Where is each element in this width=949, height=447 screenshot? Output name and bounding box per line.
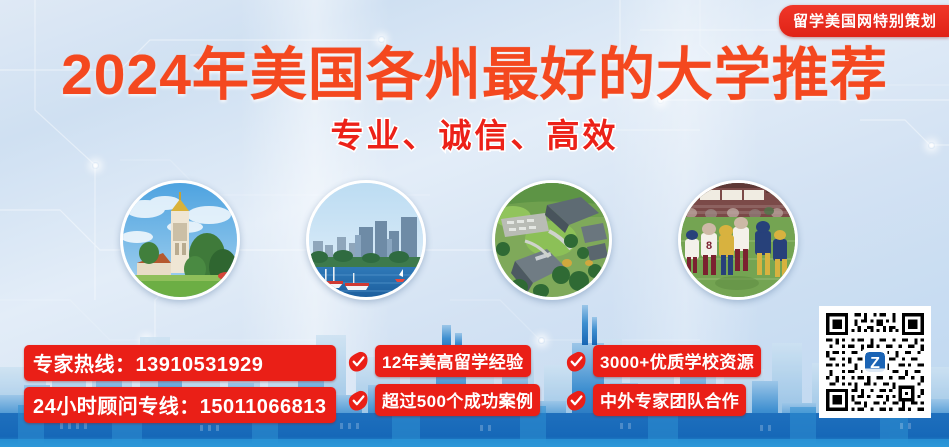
svg-text:8: 8 <box>706 240 712 252</box>
feature-label: 超过500个成功案例 <box>375 384 540 416</box>
feature-column-right: 3000+优质学校资源 中外专家团队合作 <box>566 345 761 423</box>
feature-label: 3000+优质学校资源 <box>593 345 761 377</box>
feature-label: 12年美高留学经验 <box>375 345 531 377</box>
promo-banner: 留学美国网特别策划 2024年美国各州最好的大学推荐 专业、诚信、高效 <box>0 0 949 447</box>
football-game-photo: 8 <box>678 180 798 300</box>
feature-label: 中外专家团队合作 <box>593 384 746 416</box>
page-title: 2024年美国各州最好的大学推荐 <box>0 42 949 108</box>
feature-item: 超过500个成功案例 <box>348 384 540 416</box>
campus-tower-photo <box>120 180 240 300</box>
feature-item: 中外专家团队合作 <box>566 384 761 416</box>
qr-code[interactable]: Z <box>819 306 931 418</box>
aerial-campus-photo <box>492 180 612 300</box>
waterfront-skyline-photo <box>306 180 426 300</box>
contact-block: 专家热线：13910531929 24小时顾问专线：15011066813 <box>24 345 336 429</box>
hotline-24h-advisor: 24小时顾问专线：15011066813 <box>24 387 336 423</box>
check-mark-icon <box>566 351 587 372</box>
feature-item: 3000+优质学校资源 <box>566 345 761 377</box>
check-mark-icon <box>348 390 369 411</box>
special-feature-ribbon: 留学美国网特别策划 <box>779 5 949 37</box>
feature-column-left: 12年美高留学经验 超过500个成功案例 <box>348 345 540 423</box>
check-mark-icon <box>348 351 369 372</box>
feature-item: 12年美高留学经验 <box>348 345 540 377</box>
check-mark-icon <box>566 390 587 411</box>
hotline-expert: 专家热线：13910531929 <box>24 345 336 381</box>
glow-dot-icon <box>92 162 99 169</box>
page-subtitle: 专业、诚信、高效 <box>0 116 949 156</box>
